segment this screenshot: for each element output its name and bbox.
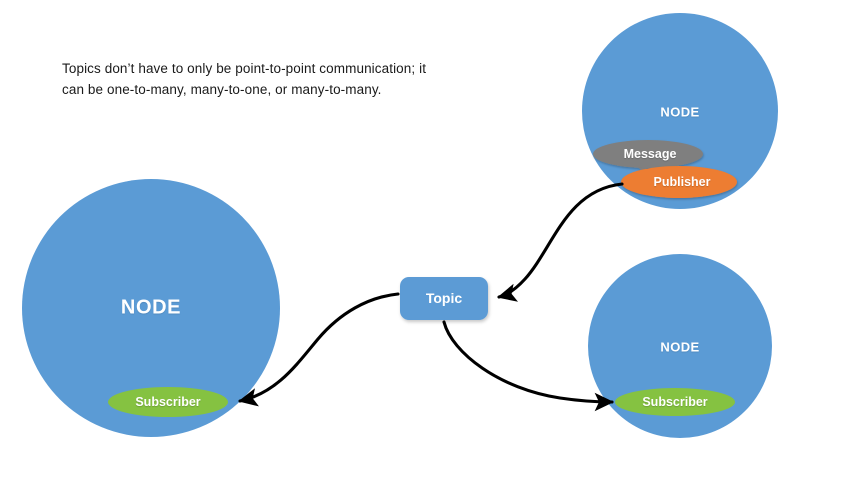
topic-box[interactable] [400, 277, 488, 320]
subscriber-ellipse-bottom-right[interactable] [615, 388, 735, 416]
message-ellipse[interactable] [593, 140, 703, 168]
arrow-topic-to-subscriber-bottom-right [444, 322, 612, 402]
diagram-canvas: Topics don’t have to only be point-to-po… [0, 0, 854, 480]
caption-text: Topics don’t have to only be point-to-po… [62, 58, 482, 100]
publisher-ellipse[interactable] [621, 166, 737, 198]
arrow-publisher-to-topic [499, 184, 622, 297]
subscriber-ellipse-left[interactable] [108, 387, 228, 417]
